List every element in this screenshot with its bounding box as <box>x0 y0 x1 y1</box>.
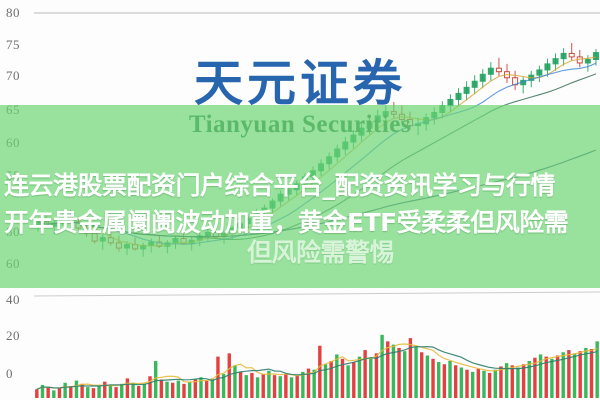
stock-chart-canvas <box>0 0 600 400</box>
axis-tick: 80 <box>6 224 20 240</box>
axis-tick: 65 <box>6 102 20 118</box>
axis-tick: 80 <box>6 5 20 21</box>
stock-chart-screenshot: 80 75 70 65 60 55 80 60 40 20 0 天元证券 Tia… <box>0 0 600 400</box>
axis-tick: 0 <box>6 366 13 382</box>
axis-tick: 75 <box>6 37 20 53</box>
axis-tick: 60 <box>6 256 20 272</box>
axis-tick: 40 <box>6 292 20 308</box>
axis-tick: 70 <box>6 68 20 84</box>
axis-tick: 60 <box>6 135 20 151</box>
axis-tick: 20 <box>6 328 20 344</box>
axis-tick: 55 <box>6 168 20 184</box>
